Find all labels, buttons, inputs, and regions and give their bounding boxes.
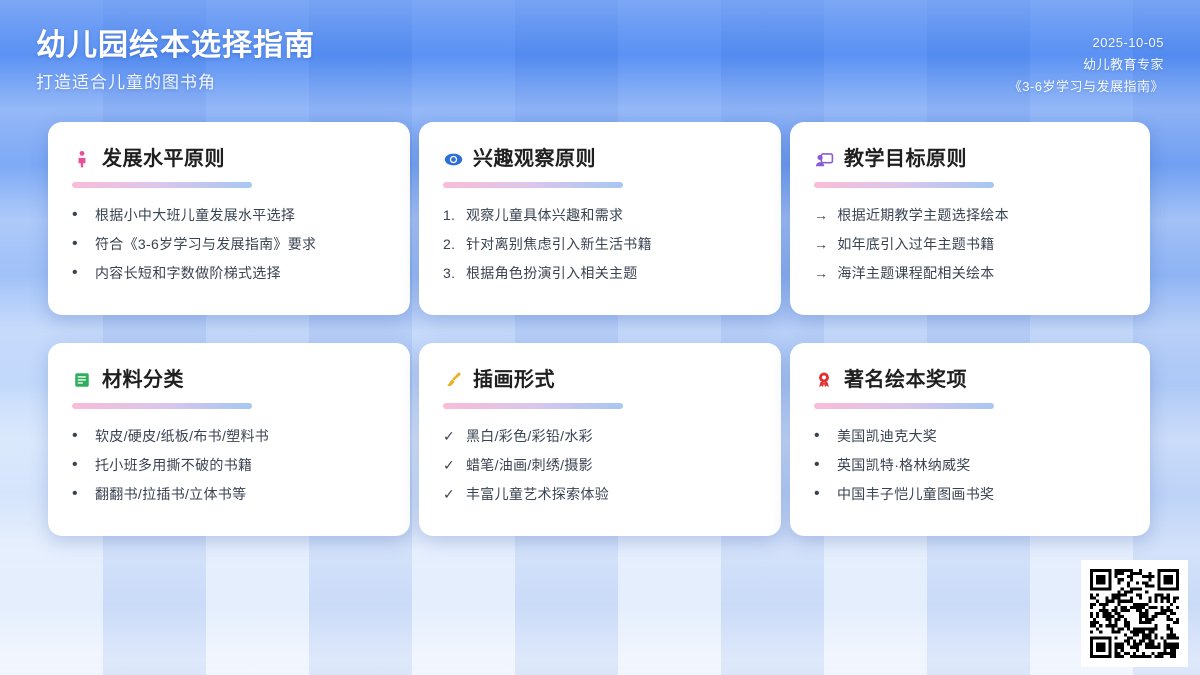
qr-code[interactable] <box>1081 560 1188 667</box>
list-item-text: 根据近期教学主题选择绘本 <box>837 204 1126 227</box>
presentation-icon <box>814 149 834 169</box>
list-item: •英国凯特·格林纳威奖 <box>814 454 1126 477</box>
list-item: 3.根据角色扮演引入相关主题 <box>443 262 757 285</box>
card-header: 著名绘本奖项 <box>814 365 1126 395</box>
list-item-text: 美国凯迪克大奖 <box>837 425 1126 448</box>
header-author: 幼儿教育专家 <box>1009 54 1164 76</box>
title-block: 幼儿园绘本选择指南 打造适合儿童的图书角 <box>36 26 315 96</box>
list-item: •中国丰子恺儿童图画书奖 <box>814 483 1126 506</box>
card-3: 教学目标原则→根据近期教学主题选择绘本→如年底引入过年主题书籍→海洋主题课程配相… <box>790 122 1150 315</box>
list-marker: 3. <box>443 262 457 285</box>
card-4: 材料分类•软皮/硬皮/纸板/布书/塑料书•托小班多用撕不破的书籍•翻翻书/拉插书… <box>48 343 410 536</box>
card-title: 教学目标原则 <box>844 145 967 173</box>
list-item-text: 符合《3-6岁学习与发展指南》要求 <box>95 233 386 256</box>
list-marker: • <box>814 425 828 447</box>
list-marker: ✓ <box>443 483 457 506</box>
card-header: 插画形式 <box>443 365 757 395</box>
list-marker: 2. <box>443 233 457 256</box>
list-item: ✓黑白/彩色/彩铅/水彩 <box>443 425 757 448</box>
card-title: 兴趣观察原则 <box>473 145 596 173</box>
list-item-text: 丰富儿童艺术探索体验 <box>466 483 757 506</box>
list-item: •托小班多用撕不破的书籍 <box>72 454 386 477</box>
list-item-text: 托小班多用撕不破的书籍 <box>95 454 386 477</box>
list-marker: • <box>72 425 86 447</box>
list-item-text: 根据角色扮演引入相关主题 <box>466 262 757 285</box>
card-title: 著名绘本奖项 <box>844 366 967 394</box>
page-subtitle: 打造适合儿童的图书角 <box>36 70 315 96</box>
card-divider <box>72 403 252 409</box>
list-item-text: 黑白/彩色/彩铅/水彩 <box>466 425 757 448</box>
card-list: ✓黑白/彩色/彩铅/水彩✓蜡笔/油画/刺绣/摄影✓丰富儿童艺术探索体验 <box>443 425 757 506</box>
card-list: →根据近期教学主题选择绘本→如年底引入过年主题书籍→海洋主题课程配相关绘本 <box>814 204 1126 285</box>
card-divider <box>443 403 623 409</box>
card-title: 材料分类 <box>102 366 184 394</box>
card-6: 著名绘本奖项•美国凯迪克大奖•英国凯特·格林纳威奖•中国丰子恺儿童图画书奖 <box>790 343 1150 536</box>
award-icon <box>814 370 834 390</box>
slide-header: 幼儿园绘本选择指南 打造适合儿童的图书角 2025-10-05 幼儿教育专家 《… <box>0 0 1200 112</box>
list-item: ✓丰富儿童艺术探索体验 <box>443 483 757 506</box>
list-item-text: 如年底引入过年主题书籍 <box>837 233 1126 256</box>
card-header: 教学目标原则 <box>814 144 1126 174</box>
card-list: •美国凯迪克大奖•英国凯特·格林纳威奖•中国丰子恺儿童图画书奖 <box>814 425 1126 506</box>
card-divider <box>72 182 252 188</box>
book-icon <box>72 370 92 390</box>
list-item: →根据近期教学主题选择绘本 <box>814 204 1126 227</box>
header-date: 2025-10-05 <box>1009 32 1164 54</box>
list-item: •美国凯迪克大奖 <box>814 425 1126 448</box>
list-item: →如年底引入过年主题书籍 <box>814 233 1126 256</box>
list-item: •根据小中大班儿童发展水平选择 <box>72 204 386 227</box>
qr-code-image <box>1090 569 1179 658</box>
paintbrush-icon <box>443 370 463 390</box>
slide-root: 幼儿园绘本选择指南 打造适合儿童的图书角 2025-10-05 幼儿教育专家 《… <box>0 0 1200 675</box>
card-5: 插画形式✓黑白/彩色/彩铅/水彩✓蜡笔/油画/刺绣/摄影✓丰富儿童艺术探索体验 <box>419 343 781 536</box>
person-icon <box>72 149 92 169</box>
card-2: 兴趣观察原则1.观察儿童具体兴趣和需求2.针对离别焦虑引入新生活书籍3.根据角色… <box>419 122 781 315</box>
list-marker: • <box>72 262 86 284</box>
list-marker: • <box>814 454 828 476</box>
list-item-text: 内容长短和字数做阶梯式选择 <box>95 262 386 285</box>
list-item: ✓蜡笔/油画/刺绣/摄影 <box>443 454 757 477</box>
card-divider <box>814 403 994 409</box>
list-marker: • <box>72 454 86 476</box>
card-list: •根据小中大班儿童发展水平选择•符合《3-6岁学习与发展指南》要求•内容长短和字… <box>72 204 386 285</box>
list-item-text: 观察儿童具体兴趣和需求 <box>466 204 757 227</box>
list-marker: ✓ <box>443 425 457 448</box>
card-divider <box>814 182 994 188</box>
card-header: 兴趣观察原则 <box>443 144 757 174</box>
list-item: 2.针对离别焦虑引入新生活书籍 <box>443 233 757 256</box>
list-marker: → <box>814 233 828 256</box>
list-item-text: 中国丰子恺儿童图画书奖 <box>837 483 1126 506</box>
list-marker: • <box>72 204 86 226</box>
list-marker: • <box>814 483 828 505</box>
card-header: 发展水平原则 <box>72 144 386 174</box>
list-item-text: 根据小中大班儿童发展水平选择 <box>95 204 386 227</box>
list-item: •软皮/硬皮/纸板/布书/塑料书 <box>72 425 386 448</box>
list-item: 1.观察儿童具体兴趣和需求 <box>443 204 757 227</box>
list-item: •翻翻书/拉插书/立体书等 <box>72 483 386 506</box>
list-item-text: 海洋主题课程配相关绘本 <box>837 262 1126 285</box>
eye-icon <box>443 149 463 169</box>
page-title: 幼儿园绘本选择指南 <box>36 26 315 66</box>
list-item-text: 针对离别焦虑引入新生活书籍 <box>466 233 757 256</box>
list-marker: → <box>814 262 828 285</box>
list-marker: • <box>72 233 86 255</box>
list-marker: → <box>814 204 828 227</box>
list-marker: • <box>72 483 86 505</box>
list-item-text: 翻翻书/拉插书/立体书等 <box>95 483 386 506</box>
list-item: •符合《3-6岁学习与发展指南》要求 <box>72 233 386 256</box>
card-title: 插画形式 <box>473 366 555 394</box>
card-divider <box>443 182 623 188</box>
list-item: →海洋主题课程配相关绘本 <box>814 262 1126 285</box>
card-1: 发展水平原则•根据小中大班儿童发展水平选择•符合《3-6岁学习与发展指南》要求•… <box>48 122 410 315</box>
list-item: •内容长短和字数做阶梯式选择 <box>72 262 386 285</box>
list-item-text: 英国凯特·格林纳威奖 <box>837 454 1126 477</box>
list-item-text: 软皮/硬皮/纸板/布书/塑料书 <box>95 425 386 448</box>
header-reference: 《3-6岁学习与发展指南》 <box>1009 76 1164 98</box>
card-title: 发展水平原则 <box>102 145 225 173</box>
header-meta: 2025-10-05 幼儿教育专家 《3-6岁学习与发展指南》 <box>1009 32 1164 98</box>
card-list: •软皮/硬皮/纸板/布书/塑料书•托小班多用撕不破的书籍•翻翻书/拉插书/立体书… <box>72 425 386 506</box>
card-list: 1.观察儿童具体兴趣和需求2.针对离别焦虑引入新生活书籍3.根据角色扮演引入相关… <box>443 204 757 285</box>
list-marker: ✓ <box>443 454 457 477</box>
list-item-text: 蜡笔/油画/刺绣/摄影 <box>466 454 757 477</box>
list-marker: 1. <box>443 204 457 227</box>
card-grid: 发展水平原则•根据小中大班儿童发展水平选择•符合《3-6岁学习与发展指南》要求•… <box>48 122 1152 536</box>
card-header: 材料分类 <box>72 365 386 395</box>
